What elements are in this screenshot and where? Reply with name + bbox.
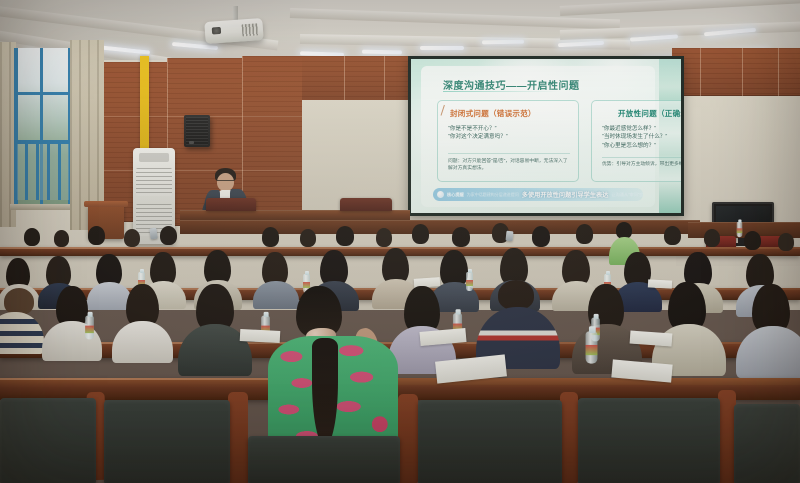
front-chair bbox=[206, 198, 256, 211]
list-item: “你是不是不开心？” bbox=[448, 125, 570, 133]
window-sill bbox=[10, 204, 76, 210]
window-railing bbox=[14, 144, 72, 200]
chair-back bbox=[0, 398, 96, 483]
chair-back bbox=[578, 398, 720, 483]
chair-arm bbox=[228, 392, 248, 483]
chair-back bbox=[734, 404, 800, 483]
panel-seam bbox=[700, 48, 701, 96]
lecture-hall-photo: 深度沟通技巧——开启性问题 封闭式问题（错误示范） “你是不是不开心？” “你对… bbox=[0, 0, 800, 483]
ceiling-light bbox=[482, 40, 524, 45]
wall-speaker bbox=[184, 115, 210, 147]
closed-question-card-title: 封闭式问题（错误示范） bbox=[450, 108, 536, 119]
window-frame bbox=[14, 92, 72, 95]
slide-title: 深度沟通技巧——开启性问题 bbox=[443, 77, 580, 92]
banner-tail: 让沟通从“审问”变为“交流”。 bbox=[611, 192, 643, 198]
ceiling-light bbox=[362, 50, 402, 55]
glasses-icon bbox=[217, 180, 234, 182]
chair-arm bbox=[560, 392, 578, 483]
banner-tag: 核心提醒 bbox=[447, 192, 464, 198]
panel-seam bbox=[778, 48, 779, 96]
bottle-label bbox=[85, 326, 94, 334]
handout-paper bbox=[648, 279, 672, 288]
chair-arm bbox=[398, 394, 418, 483]
water-bottle bbox=[737, 222, 743, 237]
open-question-list: “你最近感觉怎么样？” “当时休现场发生了什么？” “你心里是怎么想的？” bbox=[602, 125, 681, 150]
notebook bbox=[240, 329, 281, 343]
front-desk bbox=[180, 210, 410, 220]
screen-surface: 深度沟通技巧——开启性问题 封闭式问题（错误示范） “你是不是不开心？” “你对… bbox=[411, 59, 681, 213]
slide-content: 深度沟通技巧——开启性问题 封闭式问题（错误示范） “你是不是不开心？” “你对… bbox=[421, 66, 655, 207]
projector-vent bbox=[242, 23, 259, 36]
front-chair bbox=[340, 198, 392, 211]
slide-footer-banner: 核心提醒 为家中话题建构分层递进提问 多使用开放性问题引导学生表达 让沟通从“审… bbox=[433, 188, 643, 201]
open-question-note: 优势：引导对方主动倾诉，带出更多细节和情绪，建立深度连接。 bbox=[602, 162, 681, 169]
projection-screen: 深度沟通技巧——开启性问题 封闭式问题（错误示范） “你是不是不开心？” “你对… bbox=[408, 56, 684, 216]
list-item: “你心里是怎么想的？” bbox=[602, 142, 681, 150]
list-item: “你最近感觉怎么样？” bbox=[602, 125, 681, 133]
list-item: “你对这个决定满意吗？” bbox=[448, 133, 570, 141]
ac-display-panel bbox=[139, 153, 169, 162]
ac-vent bbox=[136, 168, 173, 196]
window bbox=[14, 48, 72, 206]
speaker-badge bbox=[189, 141, 194, 144]
banner-main: 多使用开放性问题引导学生表达 bbox=[522, 190, 609, 199]
open-question-card-title: 开放性问题（正确示范） bbox=[618, 108, 681, 119]
water-bottle bbox=[85, 316, 94, 340]
closed-question-card: 封闭式问题（错误示范） “你是不是不开心？” “你对这个决定满意吗？” 问题：对… bbox=[437, 100, 579, 182]
chair-back bbox=[418, 400, 562, 483]
bottle-label bbox=[737, 228, 743, 233]
podium-top bbox=[84, 201, 128, 207]
projector-lens bbox=[212, 27, 221, 35]
bullet-dot-icon bbox=[437, 191, 444, 198]
phone bbox=[505, 231, 513, 242]
banner-sub: 为家中话题建构分层递进提问 bbox=[467, 192, 519, 198]
closed-question-list: “你是不是不开心？” “你对这个决定满意吗？” bbox=[448, 125, 570, 142]
list-item: “当时休现场发生了什么？” bbox=[602, 133, 681, 141]
ceiling-light bbox=[420, 46, 464, 50]
wood-wall-panel bbox=[672, 48, 800, 96]
card-divider bbox=[448, 153, 570, 154]
projector bbox=[204, 18, 263, 44]
striped-sweater bbox=[0, 312, 44, 354]
card-divider bbox=[602, 157, 681, 158]
water-bottle bbox=[586, 331, 598, 363]
slide-title-underline bbox=[443, 91, 561, 92]
desk-surface bbox=[330, 378, 800, 385]
chair-back bbox=[248, 436, 400, 483]
closed-question-note: 问题：对方只能回答“是/否”，对话容易中断，无法深入了解对方真实想法。 bbox=[448, 159, 570, 172]
open-question-card: 开放性问题（正确示范） “你最近感觉怎么样？” “当时休现场发生了什么？” “你… bbox=[591, 100, 681, 182]
water-bottle bbox=[466, 272, 473, 291]
bottle-label bbox=[466, 280, 473, 286]
panel-seam bbox=[742, 48, 743, 96]
bottle-label bbox=[586, 345, 598, 355]
phone bbox=[149, 228, 157, 240]
chair-back bbox=[104, 400, 230, 483]
